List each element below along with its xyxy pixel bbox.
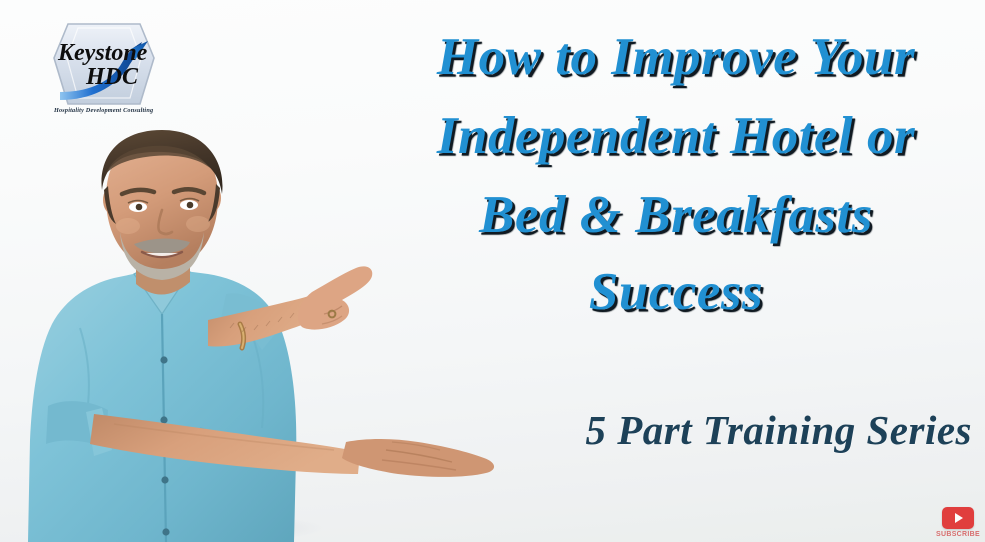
presenter-photo [0,128,534,542]
logo-word-hdc: HDC [85,64,139,90]
logo-tagline: Hospitality Development Consulting [53,107,153,114]
shirt-button [161,476,168,483]
logo-word-keystone: Keystone [57,40,148,66]
title-line-1: How to Improve Your [382,30,970,85]
subscribe-label: SUBSCRIBE [936,531,980,538]
keystone-hdc-logo: Keystone HDC Hospitality Development Con… [34,8,174,120]
shirt-button [162,528,169,535]
subtitle: 5 Part Training Series [382,408,980,453]
shirt-button [160,356,167,363]
shirt-button [160,416,167,423]
youtube-play-icon[interactable] [942,507,974,529]
video-thumbnail-canvas: Keystone HDC Hospitality Development Con… [0,0,985,542]
play-triangle-icon [955,513,963,523]
youtube-subscribe-watermark[interactable]: SUBSCRIBE [937,498,979,538]
head [101,130,222,280]
pointing-arm [208,266,372,350]
